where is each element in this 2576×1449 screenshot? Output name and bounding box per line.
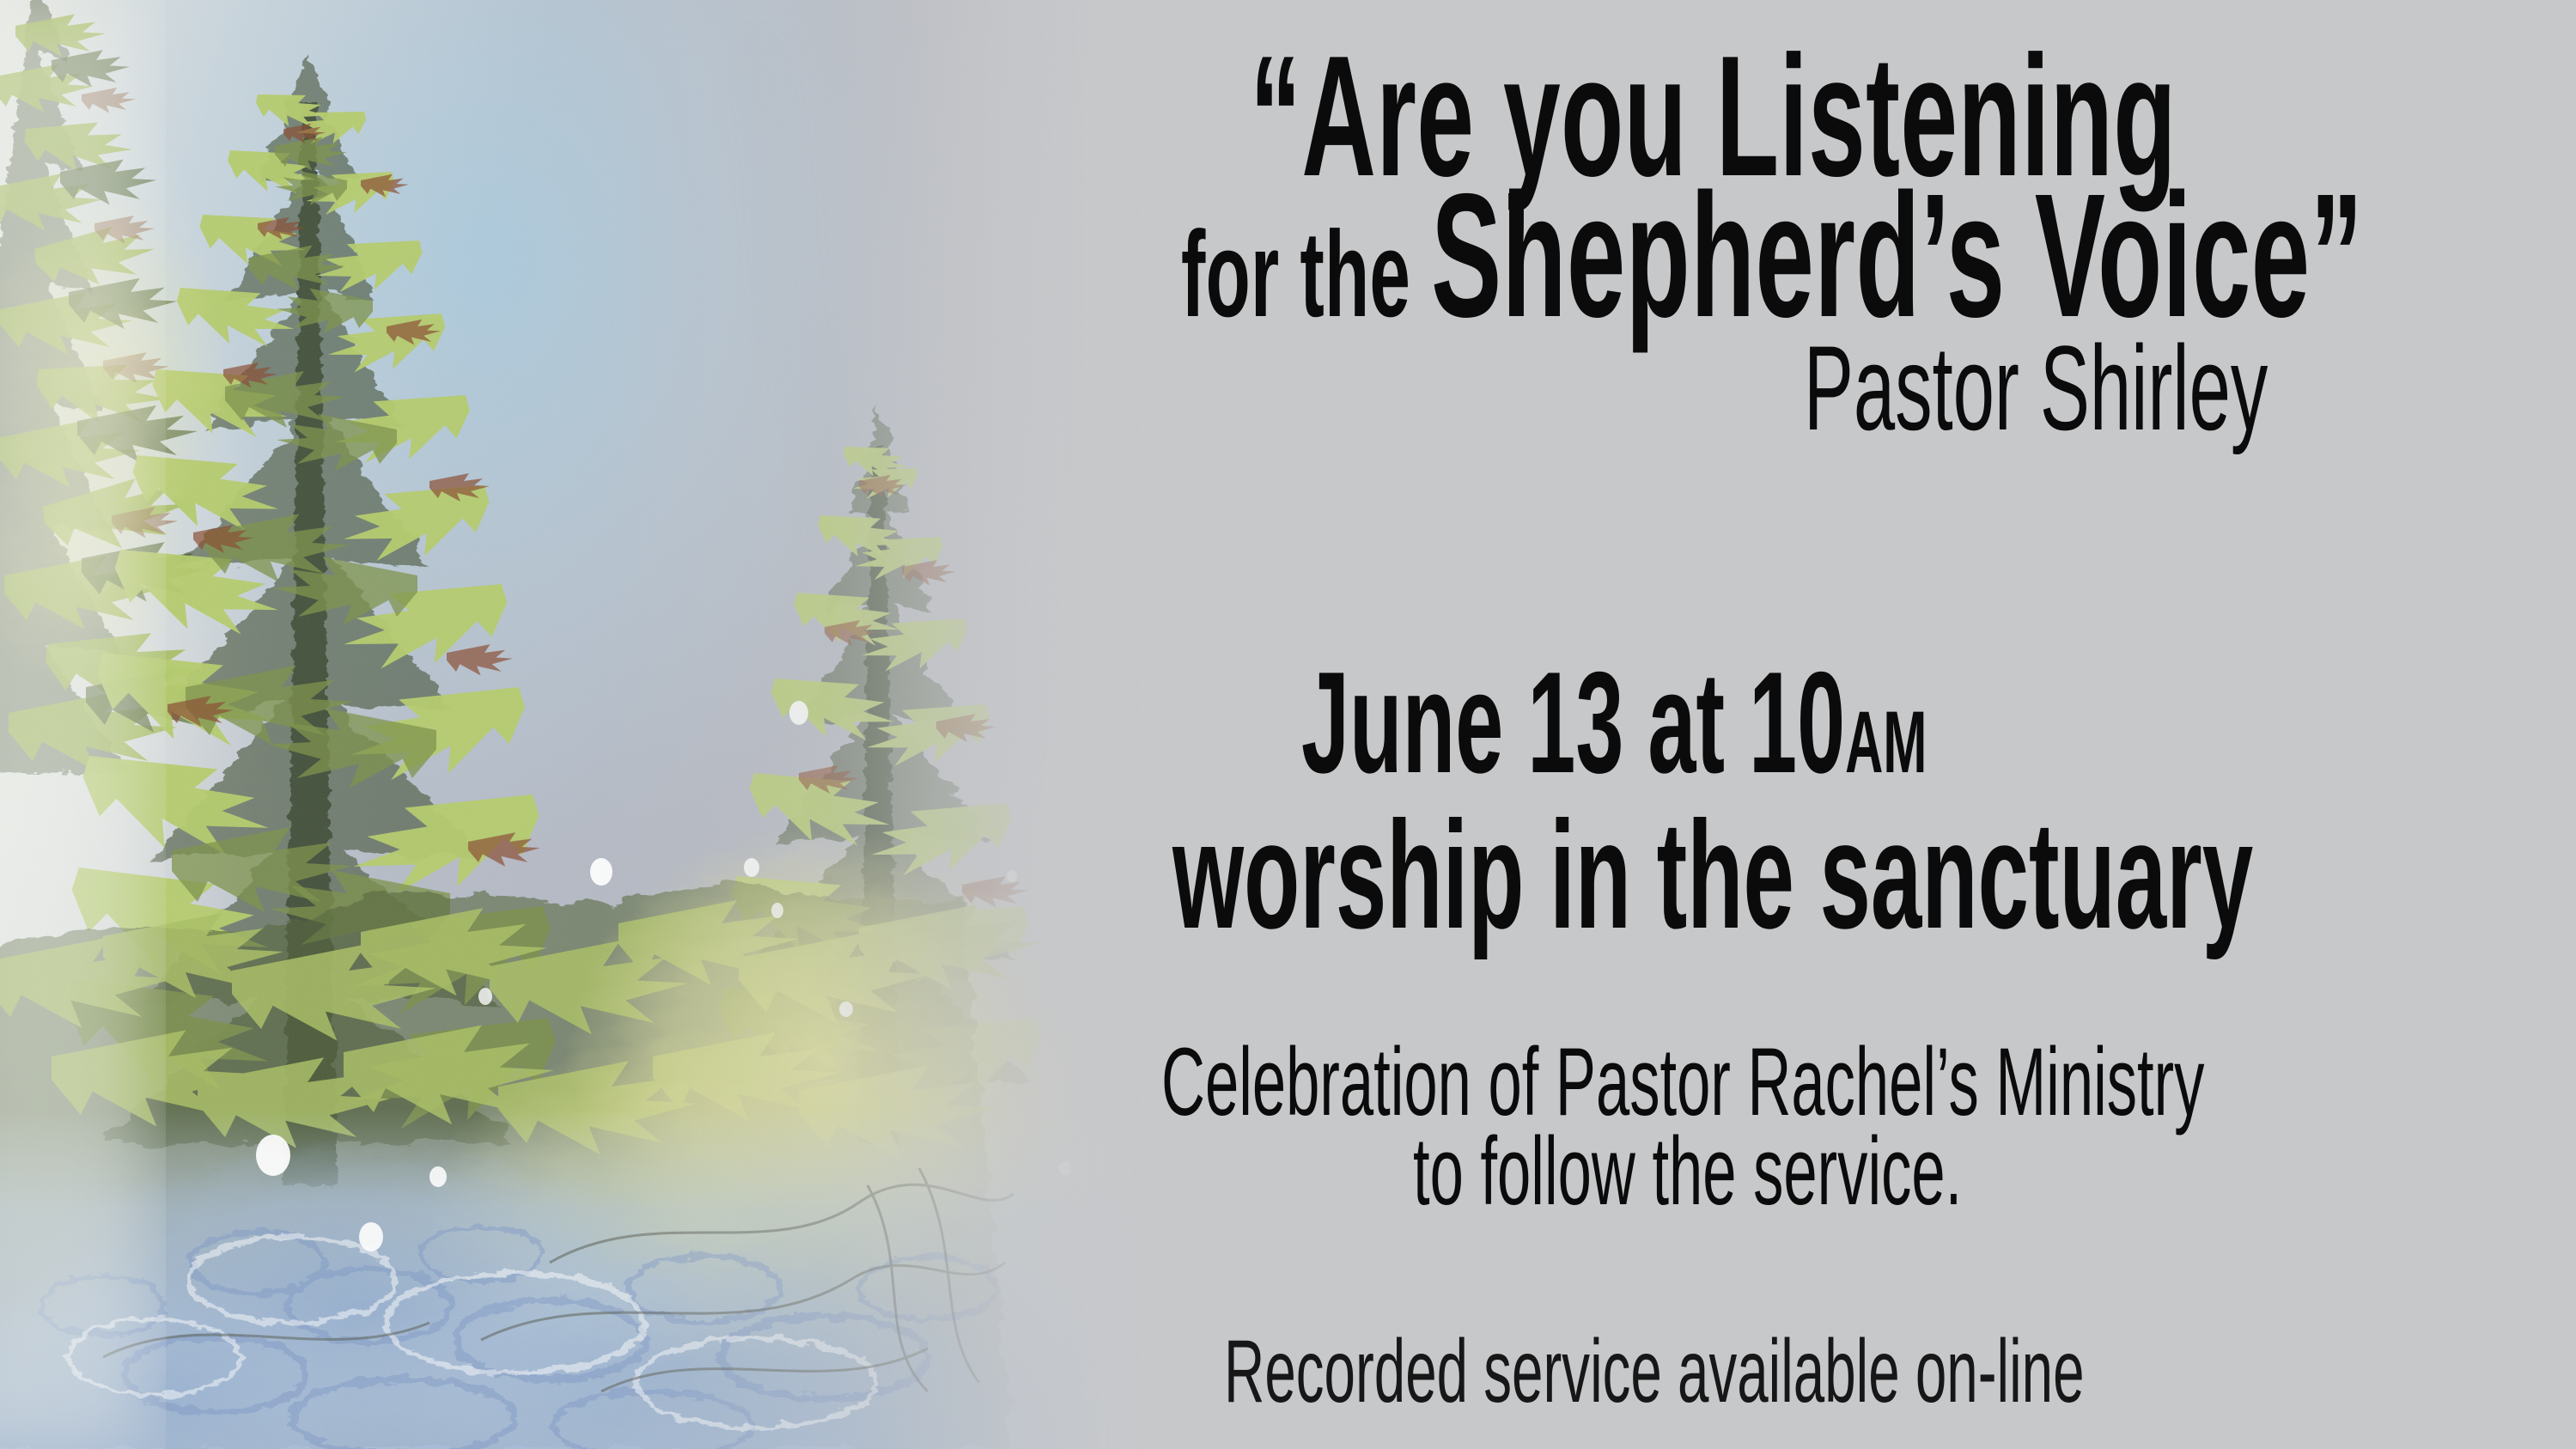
service-ampm: AM bbox=[1845, 693, 1927, 791]
watercolor-tree-artwork bbox=[0, 0, 1151, 1449]
speaker-name: Pastor Shirley bbox=[1804, 328, 2268, 448]
announcement-text-panel: “Are you Listening for the Shepherd’s Vo… bbox=[1142, 0, 2576, 1449]
recorded-service-note: Recorded service available on-line bbox=[1224, 1327, 2085, 1416]
service-date-time: June 13 at 10AM bbox=[1301, 650, 1927, 795]
announcement-slide: “Are you Listening for the Shepherd’s Vo… bbox=[0, 0, 2576, 1449]
headline-line-2: for the Shepherd’s Voice” bbox=[1181, 167, 2363, 344]
headline-line-2-small: for the bbox=[1181, 206, 1431, 343]
service-date-prefix: June 13 at 10 bbox=[1301, 642, 1845, 803]
service-location: worship in the sanctuary bbox=[1172, 799, 2253, 952]
celebration-line-1: Celebration of Pastor Rachel’s Ministry bbox=[1161, 1034, 2204, 1130]
celebration-line-2: to follow the service. bbox=[1413, 1123, 1962, 1220]
